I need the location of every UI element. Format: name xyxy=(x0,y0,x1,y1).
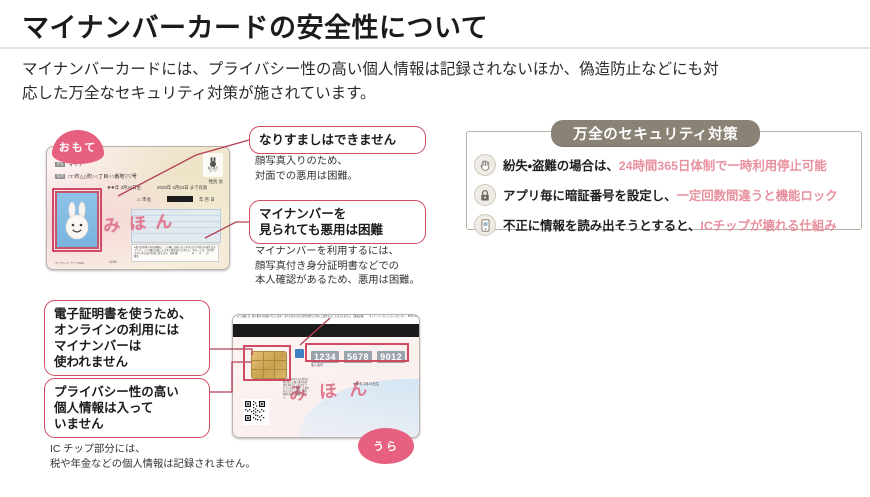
front-address-label: 住所 xyxy=(55,174,65,179)
front-name-label: 氏名 xyxy=(55,162,65,167)
callout-title-line: 電子証明書を使うため、 xyxy=(54,306,200,322)
hand-icon xyxy=(474,154,496,176)
callout-title-line: オンラインの利用には xyxy=(54,322,200,338)
my-number-label: 個人番号 xyxy=(311,363,323,367)
callout-my-number-seen: マイナンバーを 見られても悪用は困難 xyxy=(249,200,426,244)
intro-line-2: 応した万全なセキュリティ対策が施されています。 xyxy=(22,82,852,106)
front-micro-text: マイナンバーカード0001 xyxy=(55,262,84,266)
body-line: 本人確認があるため、悪用は困難。 xyxy=(255,274,445,289)
title-divider xyxy=(0,47,870,49)
back-topbar-text: ●この欄には、個人番号が記載されています。法令で定められた場合を除いて他人に提供… xyxy=(233,315,419,324)
security-text-plain: アプリ毎に暗証番号を設定し、 xyxy=(503,189,676,203)
security-row-loss-theft: 紛失・盗難の場合は、24時間365日体制で一時利用停止可能 xyxy=(474,154,827,176)
security-panel-header: 万全のセキュリティ対策 xyxy=(551,120,760,147)
callout-title-line: プライバシー性の高い xyxy=(54,384,200,400)
intro-paragraph: マイナンバーカードには、プライバシー性の高い個人情報は記録されないほか、偽造防止… xyxy=(22,58,852,105)
security-text-highlight: 24時間365日体制で一時利用停止可能 xyxy=(619,159,827,173)
callout-no-private-info-body: IC チップ部分には、 税や年金などの個人情報は記録されません。 xyxy=(50,443,350,472)
back-black-band xyxy=(233,324,419,337)
callout-title-line: いません xyxy=(54,416,200,432)
security-text-highlight: 一定回数間違うと機能ロック xyxy=(676,189,837,203)
back-note-text: ●法令で定められた場合を除き他人に個人番号の提供を求めることは禁止されています。… xyxy=(283,379,309,400)
card-front-badge: おもて xyxy=(52,130,104,164)
ic-chip-highlight-box xyxy=(243,345,291,381)
back-date-text: ❖❖年 3月24日生 xyxy=(353,381,379,386)
card-back-badge: うら xyxy=(358,428,414,464)
security-row-text: 不正に情報を読み出そうとすると、ICチップが壊れる仕組み xyxy=(503,216,837,234)
front-black-bar xyxy=(167,196,193,202)
security-text-highlight: ICチップが壊れる仕組み xyxy=(700,219,836,233)
security-text-plain: 不正に情報を読み出そうとすると、 xyxy=(503,219,700,233)
front-issue-value: 2025年 4月24日 まで有効 xyxy=(157,185,207,191)
callout-impersonation-title: なりすましはできません xyxy=(259,133,396,147)
body-line: 税や年金などの個人情報は記録されません。 xyxy=(50,458,350,473)
page-title: マイナンバーカードの安全性について xyxy=(22,6,488,45)
individual-number-card-logo: 個人番号 カード xyxy=(203,153,223,177)
front-address-value: □□市△△町○○丁目○○番地▽▽号 xyxy=(68,174,137,180)
security-text-plain: 紛失・盗難の場合は、 xyxy=(503,159,619,173)
qr-code-icon xyxy=(243,399,269,425)
intro-line-1: マイナンバーカードには、プライバシー性の高い個人情報は記録されないほか、偽造防止… xyxy=(22,58,852,82)
body-line: 顔写真入りのため、 xyxy=(255,155,435,170)
callout-title-line: 個人情報は入って xyxy=(54,400,200,416)
body-line: IC チップ部分には、 xyxy=(50,443,350,458)
callout-title-line: マイナンバーは xyxy=(54,338,200,354)
front-city-label: □□市長 xyxy=(137,197,151,203)
callout-digital-certificate: 電子証明書を使うため、 オンラインの利用には マイナンバーは 使われません xyxy=(44,300,210,376)
callout-impersonation-body: 顔写真入りのため、 対面での悪用は困難。 xyxy=(255,155,435,184)
photo-highlight-box xyxy=(52,188,102,252)
security-row-ic-chip: 不正に情報を読み出そうとすると、ICチップが壊れる仕組み xyxy=(474,214,837,236)
front-sign-label: 年 月 日 xyxy=(199,197,215,203)
front-fineprint: ●電子証明書の有効期限は、この欄に記載された年月日から5回目の誕生日までです。 … xyxy=(131,244,219,262)
front-sex-label: 性別 女 xyxy=(209,179,223,185)
lock-icon xyxy=(474,184,496,206)
body-line: 対面での悪用は困難。 xyxy=(255,170,435,185)
callout-title-line: 使われません xyxy=(54,354,200,370)
callout-impersonation: なりすましはできません xyxy=(249,126,426,154)
my-number-highlight-box xyxy=(305,343,409,362)
front-birth-value: ❖❖年 3月24日生 xyxy=(107,185,141,191)
front-serial: 1234 xyxy=(109,260,117,265)
front-address-field: 住所 □□市△△町○○丁目○○番地▽▽号 xyxy=(55,173,137,180)
rabbit-logo-icon xyxy=(208,157,218,168)
security-row-pin-lock: アプリ毎に暗証番号を設定し、一定回数間違うと機能ロック xyxy=(474,184,838,206)
callout-title-line: マイナンバーを xyxy=(259,206,416,222)
callout-title-line: 見られても悪用は困難 xyxy=(259,222,416,238)
security-row-text: 紛失・盗難の場合は、24時間365日体制で一時利用停止可能 xyxy=(503,156,827,174)
callout-no-private-info: プライバシー性の高い 個人情報は入って いません xyxy=(44,378,210,438)
security-row-text: アプリ毎に暗証番号を設定し、一定回数間違うと機能ロック xyxy=(503,186,838,204)
back-blue-mark-icon xyxy=(295,349,304,358)
body-line: マイナンバーを利用するには、 xyxy=(255,245,445,260)
callout-my-number-seen-body: マイナンバーを利用するには、 顔写真付き身分証明書などでの 本人確認があるため、… xyxy=(255,245,445,289)
infographic-page: マイナンバーカードの安全性について マイナンバーカードには、プライバシー性の高い… xyxy=(0,0,870,497)
ic-card-icon xyxy=(474,214,496,236)
body-line: 顔写真付き身分証明書などでの xyxy=(255,260,445,275)
logo-text-line2: カード xyxy=(209,171,217,174)
